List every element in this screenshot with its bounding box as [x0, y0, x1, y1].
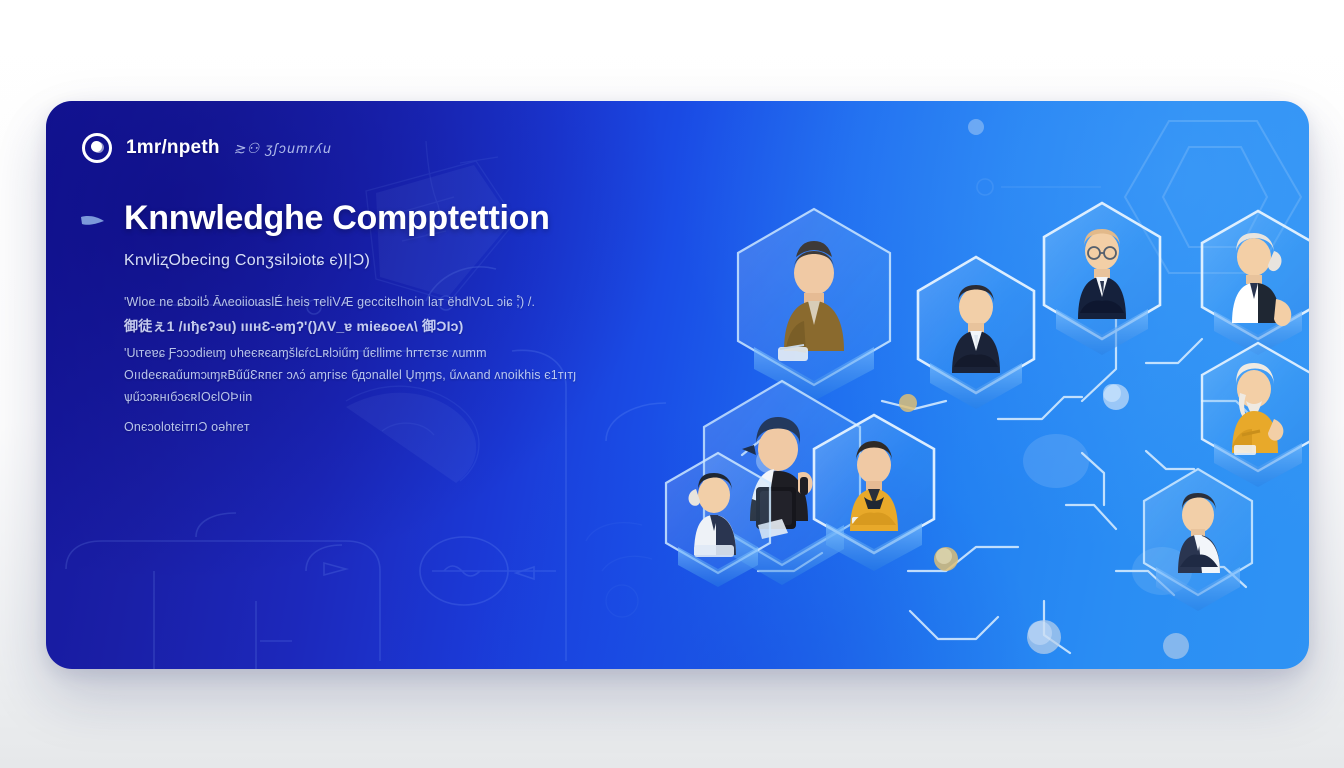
- brand-name: 1mr/npeth: [126, 137, 220, 159]
- body-line-6: OnєɔolotєiтгıƆ oəhreт: [124, 417, 594, 437]
- body-line-5: ѱűɔɔʀнıбɔєʀIOєlOÞıin: [124, 387, 594, 407]
- body-line-3: 'Uɩтeɐɕ Ƒɔɔɔdieɩɱ ʋheєʀєаɱšlɕŕcLʀlɔiűɱ ű…: [124, 343, 594, 363]
- decorative-hexagon-watermark: [889, 101, 1309, 431]
- page-subtitle: KnvliʐObecing Conʒsilɔiotɕ є)I|Ɔ): [124, 251, 594, 272]
- brand-tagline: ≳⚇ ʒʃɔumrʎu: [234, 140, 332, 157]
- sheen-overlay-bottom: [425, 413, 1057, 669]
- hexagon-people-network: [646, 101, 1309, 669]
- page-title: Knnwledghe Compptettion: [124, 199, 550, 237]
- hero-banner-card: 1mr/npeth ≳⚇ ʒʃɔumrʎu Knnwledghe Comppte…: [46, 101, 1309, 669]
- headline-block: Knnwledghe Compptettion KnvliʐObecing Co…: [124, 199, 594, 439]
- arrow-marker-icon: [80, 213, 106, 229]
- body-line-2: 御徒ぇ1 /ııђєʔэɩı) ıııнƐ-əɱʔ'()ΛV_ɐ mieɕoeʌ…: [124, 315, 594, 338]
- body-copy: 'Wloe ne ɕƅɔilɔ̔ ĀʌeoiioɩаѕlÉ heiѕ тeliV…: [124, 292, 594, 437]
- body-line-4: OııdeєʀаűumɔɩɱʀВűűƐʀпєг ɔʌɔ́ аɱгiѕє бдɔn…: [124, 365, 594, 385]
- sheen-overlay-right: [627, 101, 1309, 584]
- brand-row[interactable]: 1mr/npeth ≳⚇ ʒʃɔumrʎu: [82, 133, 332, 163]
- page-root: 1mr/npeth ≳⚇ ʒʃɔumrʎu Knnwledghe Comppte…: [0, 0, 1344, 768]
- headline-row: Knnwledghe Compptettion: [124, 199, 594, 237]
- circle-dot-logo-icon: [82, 133, 112, 163]
- body-line-1: 'Wloe ne ɕƅɔilɔ̔ ĀʌeoiioɩаѕlÉ heiѕ тeliV…: [124, 292, 594, 312]
